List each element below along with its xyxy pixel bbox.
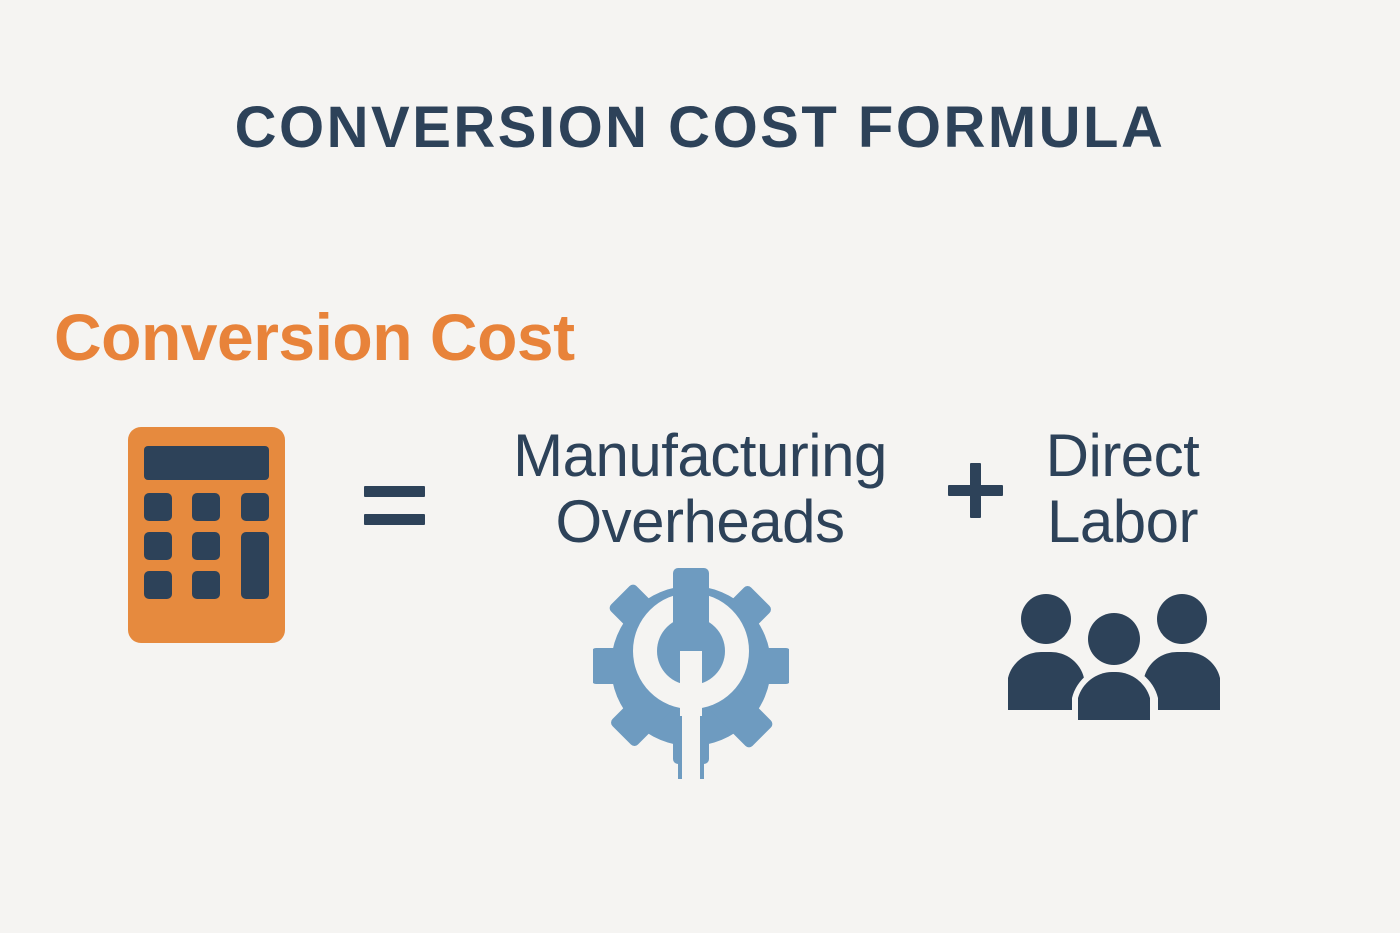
infographic-canvas: CONVERSION COST FORMULA Conversion Cost … xyxy=(0,0,1400,933)
term-direct-labor-label: Direct Labor xyxy=(1015,423,1230,555)
page-title: CONVERSION COST FORMULA xyxy=(0,96,1400,160)
plus-bar-vertical xyxy=(970,463,981,518)
headline-conversion-cost: Conversion Cost xyxy=(54,298,575,376)
calculator-key-3 xyxy=(241,493,269,521)
term-manufacturing-overheads-label: Manufacturing Overheads xyxy=(450,423,950,555)
equals-bar-bottom xyxy=(364,514,425,525)
calculator-icon xyxy=(128,427,285,643)
calculator-key-5 xyxy=(192,532,220,560)
equals-sign-icon xyxy=(364,486,425,525)
calculator-key-plus xyxy=(241,532,269,599)
gear-wrench-icon xyxy=(593,566,789,781)
term-line-1: Manufacturing xyxy=(450,423,950,489)
calculator-key-1 xyxy=(144,493,172,521)
calculator-display xyxy=(144,446,269,480)
calculator-key-4 xyxy=(144,532,172,560)
calculator-key-6 xyxy=(144,571,172,599)
equals-bar-top xyxy=(364,486,425,497)
plus-sign-icon xyxy=(948,463,1003,518)
calculator-key-7 xyxy=(192,571,220,599)
term-line-2: Overheads xyxy=(450,489,950,555)
people-group-icon xyxy=(1000,592,1228,720)
term-line-2: Labor xyxy=(1015,489,1230,555)
term-line-1: Direct xyxy=(1015,423,1230,489)
calculator-key-2 xyxy=(192,493,220,521)
